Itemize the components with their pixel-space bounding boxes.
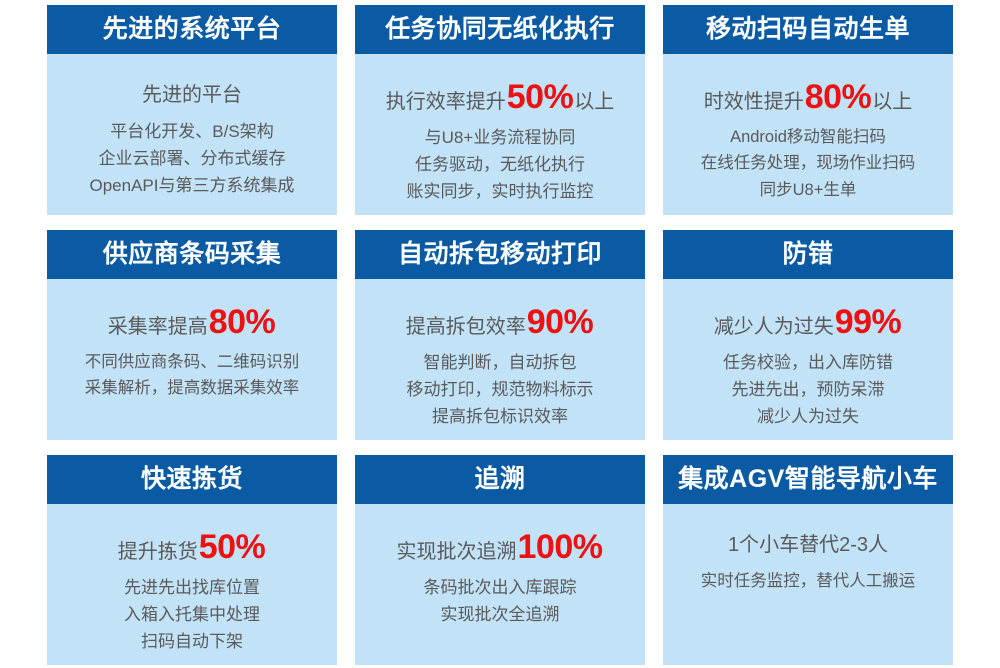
card-detail-line: 实时任务监控，替代人工搬运: [701, 570, 916, 593]
card-title-error-prevention: 防错: [663, 230, 953, 279]
card-detail-line: Android移动智能扫码: [730, 126, 886, 149]
card-detail-line: 扫码自动下架: [141, 630, 243, 654]
card-title-supplier-barcode-capture: 供应商条码采集: [47, 230, 337, 279]
feature-card-integrated-agv[interactable]: 集成AGV智能导航小车1个小车替代2-3人实时任务监控，替代人工搬运: [663, 455, 953, 665]
card-title-fast-picking: 快速拣货: [47, 455, 337, 504]
feature-card-supplier-barcode-capture[interactable]: 供应商条码采集采集率提高80%不同供应商条码、二维码识别采集解析，提高数据采集效…: [47, 230, 337, 440]
feature-card-fast-picking[interactable]: 快速拣货提升拣货50%先进先出找库位置入箱入托集中处理扫码自动下架: [47, 455, 337, 665]
card-body-supplier-barcode-capture: 采集率提高80%不同供应商条码、二维码识别采集解析，提高数据采集效率: [47, 279, 337, 440]
card-headline-paperless-task-execution: 执行效率提升50%以上: [386, 80, 615, 114]
feature-card-error-prevention[interactable]: 防错减少人为过失99%任务校验，出入库防错先进先出，预防呆滞减少人为过失: [663, 230, 953, 440]
card-detail-line: 不同供应商条码、二维码识别: [85, 351, 300, 374]
card-detail-line: 先进先出找库位置: [124, 576, 260, 600]
card-title-integrated-agv: 集成AGV智能导航小车: [663, 455, 953, 504]
card-detail-line: 条码批次出入库跟踪: [424, 576, 577, 600]
card-detail-line: 平台化开发、B/S架构: [110, 120, 273, 144]
card-detail-line: 与U8+业务流程协同: [425, 126, 576, 150]
card-detail-line: 企业云部署、分布式缓存: [99, 147, 286, 171]
card-detail-line: 任务校验，出入库防错: [723, 351, 893, 375]
headline-trail-text: 以上: [574, 91, 614, 113]
card-detail-line: 账实同步，实时执行监控: [407, 180, 594, 204]
headline-metric-value: 100%: [517, 530, 604, 564]
card-details-error-prevention: 任务校验，出入库防错先进先出，预防呆滞减少人为过失: [723, 351, 893, 429]
card-headline-traceability: 实现批次追溯100%: [397, 530, 604, 564]
card-body-mobile-scan-auto-order: 时效性提升80%以上Android移动智能扫码在线任务处理，现场作业扫码同步U8…: [663, 54, 953, 215]
feature-card-advanced-system-platform[interactable]: 先进的系统平台先进的平台平台化开发、B/S架构企业云部署、分布式缓存OpenAP…: [47, 5, 337, 215]
feature-card-grid: 先进的系统平台先进的平台平台化开发、B/S架构企业云部署、分布式缓存OpenAP…: [0, 0, 1000, 668]
card-headline-advanced-system-platform: 先进的平台: [142, 84, 242, 106]
card-detail-line: 采集解析，提高数据采集效率: [85, 377, 300, 400]
card-headline-fast-picking: 提升拣货50%: [118, 530, 267, 564]
card-title-mobile-scan-auto-order: 移动扫码自动生单: [663, 5, 953, 54]
card-details-integrated-agv: 实时任务监控，替代人工搬运: [701, 570, 916, 593]
headline-metric-value: 50%: [506, 80, 575, 114]
feature-card-mobile-scan-auto-order[interactable]: 移动扫码自动生单时效性提升80%以上Android移动智能扫码在线任务处理，现场…: [663, 5, 953, 215]
feature-card-paperless-task-execution[interactable]: 任务协同无纸化执行执行效率提升50%以上与U8+业务流程协同任务驱动，无纸化执行…: [355, 5, 645, 215]
headline-metric-value: 99%: [834, 305, 903, 339]
card-detail-line: 减少人为过失: [757, 405, 859, 429]
card-body-auto-unpack-mobile-print: 提高拆包效率90%智能判断，自动拆包移动打印，规范物料标示提高拆包标识效率: [355, 279, 645, 440]
headline-lead-text: 时效性提升: [704, 91, 804, 113]
card-detail-line: 提高拆包标识效率: [432, 405, 568, 429]
card-detail-line: 移动打印，规范物料标示: [407, 378, 594, 402]
card-details-supplier-barcode-capture: 不同供应商条码、二维码识别采集解析，提高数据采集效率: [85, 351, 300, 401]
headline-metric-value: 80%: [208, 305, 277, 339]
card-headline-integrated-agv: 1个小车替代2-3人: [728, 534, 888, 556]
card-details-auto-unpack-mobile-print: 智能判断，自动拆包移动打印，规范物料标示提高拆包标识效率: [407, 351, 594, 429]
card-body-fast-picking: 提升拣货50%先进先出找库位置入箱入托集中处理扫码自动下架: [47, 504, 337, 665]
card-detail-line: 同步U8+生单: [760, 179, 857, 202]
card-body-error-prevention: 减少人为过失99%任务校验，出入库防错先进先出，预防呆滞减少人为过失: [663, 279, 953, 440]
headline-metric-value: 80%: [804, 80, 873, 114]
headline-lead-text: 提升拣货: [118, 541, 198, 563]
headline-lead-text: 1个小车替代2-3人: [728, 534, 888, 556]
headline-lead-text: 减少人为过失: [714, 316, 834, 338]
card-headline-supplier-barcode-capture: 采集率提高80%: [108, 305, 277, 339]
card-details-paperless-task-execution: 与U8+业务流程协同任务驱动，无纸化执行账实同步，实时执行监控: [407, 126, 594, 204]
card-details-traceability: 条码批次出入库跟踪实现批次全追溯: [424, 576, 577, 627]
headline-metric-value: 90%: [526, 305, 595, 339]
headline-lead-text: 提高拆包效率: [406, 316, 526, 338]
feature-card-traceability[interactable]: 追溯实现批次追溯100%条码批次出入库跟踪实现批次全追溯: [355, 455, 645, 665]
card-details-fast-picking: 先进先出找库位置入箱入托集中处理扫码自动下架: [124, 576, 260, 654]
headline-lead-text: 先进的平台: [142, 84, 242, 106]
card-detail-line: 在线任务处理，现场作业扫码: [701, 152, 916, 175]
card-detail-line: 实现批次全追溯: [441, 603, 560, 627]
card-title-advanced-system-platform: 先进的系统平台: [47, 5, 337, 54]
card-detail-line: 任务驱动，无纸化执行: [415, 153, 585, 177]
card-detail-line: 先进先出，预防呆滞: [732, 378, 885, 402]
card-headline-error-prevention: 减少人为过失99%: [714, 305, 903, 339]
card-body-advanced-system-platform: 先进的平台平台化开发、B/S架构企业云部署、分布式缓存OpenAPI与第三方系统…: [47, 54, 337, 215]
card-detail-line: OpenAPI与第三方系统集成: [90, 174, 295, 198]
headline-trail-text: 以上: [872, 91, 912, 113]
card-body-integrated-agv: 1个小车替代2-3人实时任务监控，替代人工搬运: [663, 504, 953, 665]
card-title-traceability: 追溯: [355, 455, 645, 504]
headline-lead-text: 执行效率提升: [386, 91, 506, 113]
card-body-traceability: 实现批次追溯100%条码批次出入库跟踪实现批次全追溯: [355, 504, 645, 665]
card-body-paperless-task-execution: 执行效率提升50%以上与U8+业务流程协同任务驱动，无纸化执行账实同步，实时执行…: [355, 54, 645, 215]
card-headline-auto-unpack-mobile-print: 提高拆包效率90%: [406, 305, 595, 339]
card-detail-line: 智能判断，自动拆包: [424, 351, 577, 375]
card-details-advanced-system-platform: 平台化开发、B/S架构企业云部署、分布式缓存OpenAPI与第三方系统集成: [90, 120, 295, 198]
headline-metric-value: 50%: [198, 530, 267, 564]
card-details-mobile-scan-auto-order: Android移动智能扫码在线任务处理，现场作业扫码同步U8+生单: [701, 126, 916, 202]
headline-lead-text: 实现批次追溯: [397, 541, 517, 563]
headline-lead-text: 采集率提高: [108, 316, 208, 338]
feature-card-auto-unpack-mobile-print[interactable]: 自动拆包移动打印提高拆包效率90%智能判断，自动拆包移动打印，规范物料标示提高拆…: [355, 230, 645, 440]
card-detail-line: 入箱入托集中处理: [124, 603, 260, 627]
card-title-paperless-task-execution: 任务协同无纸化执行: [355, 5, 645, 54]
card-title-auto-unpack-mobile-print: 自动拆包移动打印: [355, 230, 645, 279]
card-headline-mobile-scan-auto-order: 时效性提升80%以上: [704, 80, 913, 114]
